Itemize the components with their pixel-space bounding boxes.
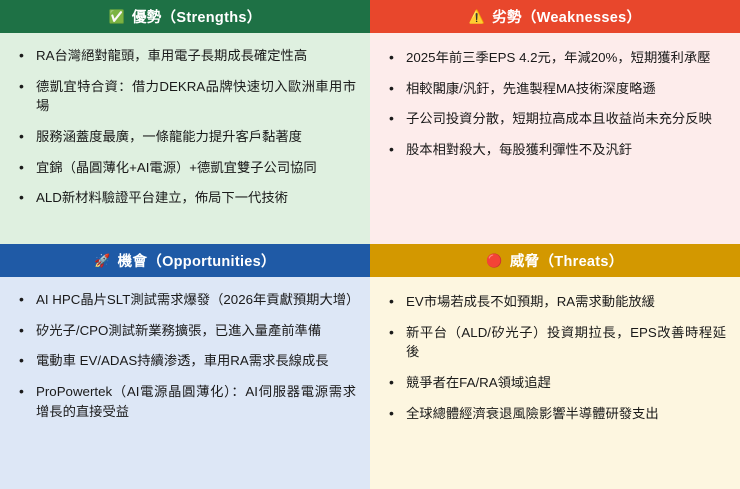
- quadrant-threats-header: 🔴 威脅（Threats）: [370, 244, 740, 277]
- list-item: EV市場若成長不如預期，RA需求動能放緩: [380, 292, 726, 312]
- quadrant-strengths-header: ✅ 優勢（Strengths）: [0, 0, 370, 33]
- list-item: ProPowertek（AI電源晶圓薄化）：AI伺服器電源需求增長的直接受益: [10, 382, 356, 421]
- quadrant-strengths-body: RA台灣絕對龍頭，車用電子長期成長確定性高 德凱宜特合資：借力DEKRA品牌快速…: [0, 33, 370, 244]
- quadrant-opportunities-body: AI HPC晶片SLT測試需求爆發（2026年貢獻預期大增） 矽光子/CPO測試…: [0, 277, 370, 489]
- list-item: 股本相對殺大，每股獲利彈性不及汎釪: [380, 140, 726, 160]
- list-item: 新平台（ALD/矽光子）投資期拉長，EPS改善時程延後: [380, 323, 726, 362]
- warning-icon: ⚠️: [469, 10, 486, 23]
- list-item: RA台灣絕對龍頭，車用電子長期成長確定性高: [10, 46, 356, 66]
- list-item: 相較閣康/汎釪，先進製程MA技術深度略遜: [380, 79, 726, 99]
- quadrant-threats: 🔴 威脅（Threats） EV市場若成長不如預期，RA需求動能放緩 新平台（A…: [370, 244, 740, 489]
- list-item: 電動車 EV/ADAS持續渗透，車用RA需求長線成長: [10, 351, 356, 371]
- list-item: ALD新材料驗證平台建立，佈局下一代技術: [10, 188, 356, 208]
- list-item: 全球總體經濟衰退風險影響半導體研發支出: [380, 404, 726, 424]
- quadrant-strengths: ✅ 優勢（Strengths） RA台灣絕對龍頭，車用電子長期成長確定性高 德凱…: [0, 0, 370, 244]
- check-mark-icon: ✅: [108, 10, 125, 23]
- list-item: 競爭者在FA/RA領域追趕: [380, 373, 726, 393]
- weaknesses-list: 2025年前三季EPS 4.2元，年減20%，短期獲利承壓 相較閣康/汎釪，先進…: [380, 48, 726, 160]
- opportunities-list: AI HPC晶片SLT測試需求爆發（2026年貢獻預期大增） 矽光子/CPO測試…: [10, 290, 356, 421]
- rocket-icon: 🚀: [94, 254, 111, 267]
- quadrant-opportunities-header: 🚀 機會（Opportunities）: [0, 244, 370, 277]
- quadrant-opportunities: 🚀 機會（Opportunities） AI HPC晶片SLT測試需求爆發（20…: [0, 244, 370, 489]
- red-circle-icon: 🔴: [486, 254, 503, 267]
- quadrant-weaknesses-body: 2025年前三季EPS 4.2元，年減20%，短期獲利承壓 相較閣康/汎釪，先進…: [370, 33, 740, 244]
- quadrant-weaknesses: ⚠️ 劣勢（Weaknesses） 2025年前三季EPS 4.2元，年減20%…: [370, 0, 740, 244]
- list-item: 子公司投資分散，短期拉高成本且收益尚未充分反映: [380, 109, 726, 129]
- list-item: 矽光子/CPO測試新業務擴張，已進入量產前準備: [10, 321, 356, 341]
- quadrant-weaknesses-title: 劣勢（Weaknesses）: [492, 6, 641, 27]
- quadrant-threats-title: 威脅（Threats）: [510, 250, 624, 271]
- list-item: 德凱宜特合資：借力DEKRA品牌快速切入歐洲車用市場: [10, 77, 356, 116]
- quadrant-strengths-title: 優勢（Strengths）: [132, 6, 262, 27]
- list-item: AI HPC晶片SLT測試需求爆發（2026年貢獻預期大增）: [10, 290, 356, 310]
- list-item: 服務涵蓋度最廣，一條龍能力提升客戶黏著度: [10, 127, 356, 147]
- list-item: 宜錦（晶圓薄化+AI電源）+德凱宜雙子公司協同: [10, 158, 356, 178]
- list-item: 2025年前三季EPS 4.2元，年減20%，短期獲利承壓: [380, 48, 726, 68]
- strengths-list: RA台灣絕對龍頭，車用電子長期成長確定性高 德凱宜特合資：借力DEKRA品牌快速…: [10, 46, 356, 208]
- swot-matrix: ✅ 優勢（Strengths） RA台灣絕對龍頭，車用電子長期成長確定性高 德凱…: [0, 0, 740, 489]
- quadrant-threats-body: EV市場若成長不如預期，RA需求動能放緩 新平台（ALD/矽光子）投資期拉長，E…: [370, 277, 740, 489]
- quadrant-opportunities-title: 機會（Opportunities）: [118, 250, 276, 271]
- threats-list: EV市場若成長不如預期，RA需求動能放緩 新平台（ALD/矽光子）投資期拉長，E…: [380, 292, 726, 423]
- quadrant-weaknesses-header: ⚠️ 劣勢（Weaknesses）: [370, 0, 740, 33]
